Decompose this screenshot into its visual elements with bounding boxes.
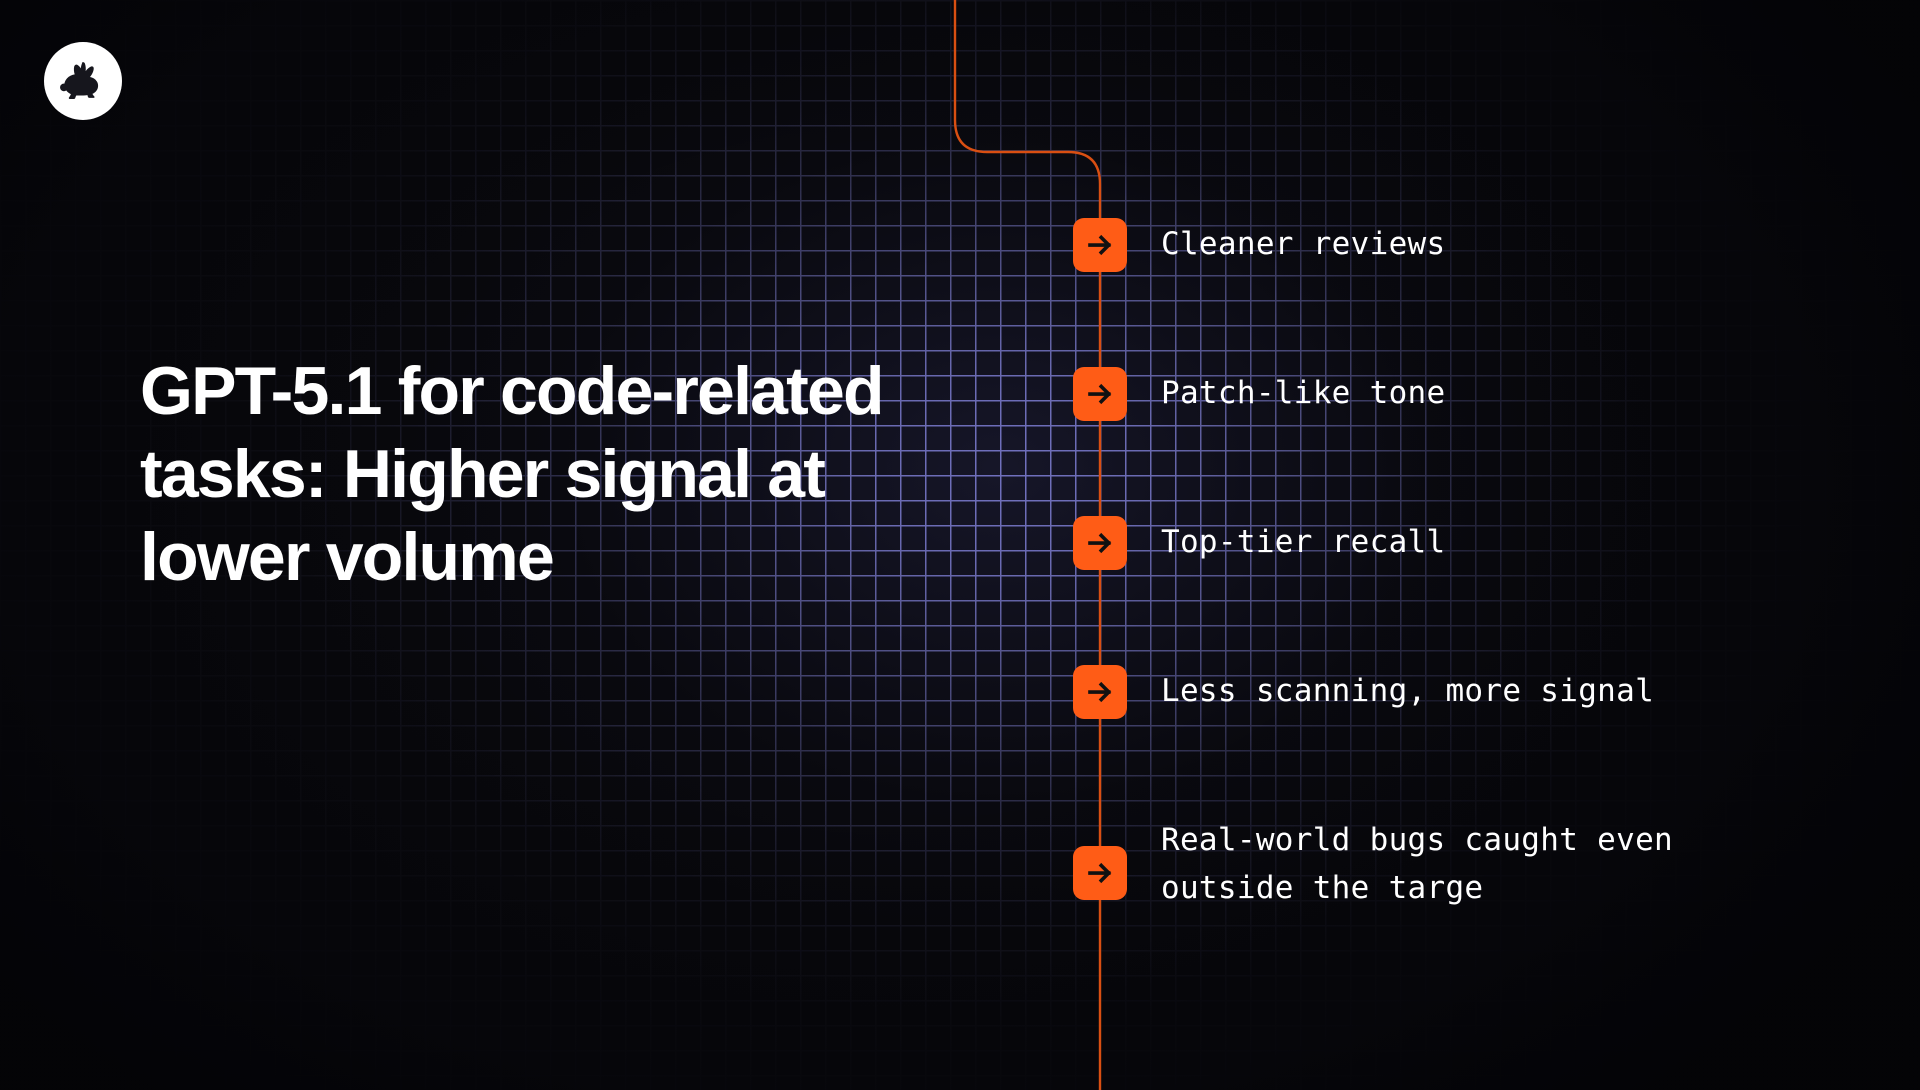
list-item[interactable]: Top-tier recall xyxy=(1073,516,1813,570)
list-item[interactable]: Cleaner reviews xyxy=(1073,218,1813,272)
slide-canvas: GPT-5.1 for code-related tasks: Higher s… xyxy=(0,0,1920,1090)
page-title: GPT-5.1 for code-related tasks: Higher s… xyxy=(140,350,900,599)
arrow-right-icon[interactable] xyxy=(1073,367,1127,421)
list-item[interactable]: Less scanning, more signal xyxy=(1073,665,1813,719)
list-item[interactable]: Real-world bugs caught even outside the … xyxy=(1073,814,1813,912)
list-item-label: Top-tier recall xyxy=(1161,516,1445,566)
list-item-label: Cleaner reviews xyxy=(1161,218,1445,268)
list-item-label: Patch-like tone xyxy=(1161,367,1445,417)
feature-list: Cleaner reviews Patch-like tone Top-tier… xyxy=(1073,218,1813,912)
arrow-right-icon[interactable] xyxy=(1073,218,1127,272)
rabbit-icon xyxy=(57,55,109,107)
arrow-right-icon[interactable] xyxy=(1073,665,1127,719)
arrow-right-icon[interactable] xyxy=(1073,516,1127,570)
arrow-right-icon[interactable] xyxy=(1073,846,1127,900)
list-item[interactable]: Patch-like tone xyxy=(1073,367,1813,421)
list-item-label: Less scanning, more signal xyxy=(1161,665,1654,715)
list-item-label: Real-world bugs caught even outside the … xyxy=(1161,814,1673,912)
brand-logo xyxy=(44,42,122,120)
